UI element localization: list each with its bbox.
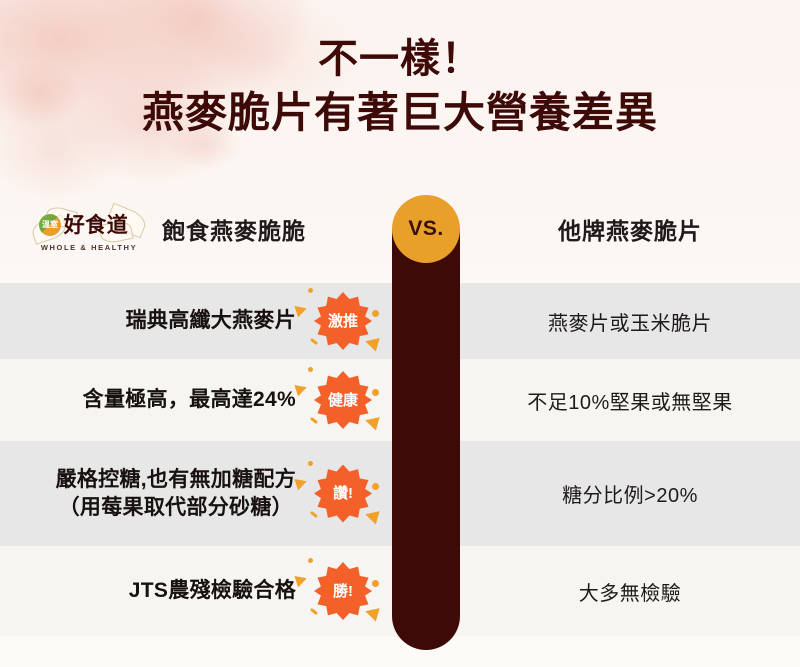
brand-column-header: 溫室 好食道 WHOLE & HEALTHY 飽食燕麥脆脆	[30, 195, 306, 263]
sparkle-triangle-icon	[363, 507, 379, 524]
rival-cell: 不足10%堅果或無堅果	[460, 359, 800, 441]
brand-cell: 含量極高，最高達24%健康	[0, 359, 392, 441]
sparkle-triangle-icon	[363, 334, 379, 351]
recommend-stamp: 健康	[296, 367, 380, 433]
rival-product-name: 他牌燕麥脆片	[558, 212, 702, 246]
sparkle-dot-icon	[308, 367, 313, 372]
stamp-label: 讚!	[333, 486, 353, 501]
rival-cell-text: 燕麥片或玉米脆片	[548, 307, 712, 336]
brand-cell: JTS農殘檢驗合格勝!	[0, 546, 392, 636]
vs-badge: VS.	[392, 195, 460, 263]
sparkle-triangle-icon	[363, 604, 379, 621]
sparkle-dot-icon	[372, 483, 379, 490]
brand-cell: 瑞典高纖大燕麥片激推	[0, 283, 392, 359]
sparkle-triangle-icon	[294, 475, 308, 490]
starburst-icon: 勝!	[314, 562, 372, 620]
sparkle-triangle-icon	[363, 413, 379, 430]
comparison-infographic: 不一樣！ 燕麥脆片有著巨大營養差異 溫室 好食道 WHOLE & HEALTHY…	[0, 0, 800, 667]
stamp-label: 激推	[328, 314, 358, 329]
page-title: 不一樣！ 燕麥脆片有著巨大營養差異	[0, 36, 800, 138]
recommend-stamp: 激推	[296, 288, 380, 354]
sparkle-dash-icon	[310, 608, 318, 615]
sparkle-dash-icon	[310, 338, 318, 345]
vs-label: VS.	[408, 217, 443, 241]
stamp-label: 勝!	[333, 584, 353, 599]
title-line-1: 不一樣！	[0, 36, 800, 83]
sparkle-dot-icon	[372, 580, 379, 587]
sparkle-triangle-icon	[294, 382, 308, 397]
starburst-icon: 讚!	[314, 465, 372, 523]
brand-cell: 嚴格控糖,也有無加糖配方 （用莓果取代部分砂糖）讚!	[0, 441, 392, 546]
sparkle-triangle-icon	[294, 573, 308, 588]
recommend-stamp: 讚!	[296, 461, 380, 527]
rival-cell-text: 大多無檢驗	[579, 577, 682, 606]
sparkle-dash-icon	[310, 417, 318, 424]
sparkle-triangle-icon	[294, 303, 308, 318]
starburst-icon: 激推	[314, 292, 372, 350]
logo-emblem-icon: 溫室	[39, 214, 61, 236]
stamp-label: 健康	[328, 393, 358, 408]
rival-cell: 糖分比例>20%	[460, 441, 800, 546]
recommend-stamp: 勝!	[296, 558, 380, 624]
sparkle-dash-icon	[310, 510, 318, 517]
logo-chinese-name: 好食道	[64, 209, 129, 239]
brand-logo: 溫室 好食道 WHOLE & HEALTHY	[30, 204, 148, 254]
rival-cell: 大多無檢驗	[460, 546, 800, 636]
logo-wheat-icon: 溫室 好食道	[30, 206, 148, 242]
logo-english-tagline: WHOLE & HEALTHY	[41, 243, 137, 252]
brand-product-name: 飽食燕麥脆脆	[162, 212, 306, 246]
rival-cell: 燕麥片或玉米脆片	[460, 283, 800, 359]
title-line-2: 燕麥脆片有著巨大營養差異	[0, 88, 800, 138]
sparkle-dot-icon	[308, 288, 313, 293]
rival-cell-text: 不足10%堅果或無堅果	[527, 386, 733, 415]
rival-cell-text: 糖分比例>20%	[562, 479, 698, 508]
sparkle-dot-icon	[372, 389, 379, 396]
brand-cell-text: 瑞典高纖大燕麥片	[126, 307, 296, 335]
brand-cell-text: JTS農殘檢驗合格	[129, 577, 296, 605]
brand-cell-text: 嚴格控糖,也有無加糖配方 （用莓果取代部分砂糖）	[56, 466, 296, 521]
starburst-icon: 健康	[314, 371, 372, 429]
sparkle-dot-icon	[308, 461, 313, 466]
sparkle-dot-icon	[308, 558, 313, 563]
sparkle-dot-icon	[372, 310, 379, 317]
rival-column-header: 他牌燕麥脆片	[460, 195, 800, 263]
center-category-column	[392, 229, 460, 650]
brand-cell-text: 含量極高，最高達24%	[83, 386, 296, 414]
